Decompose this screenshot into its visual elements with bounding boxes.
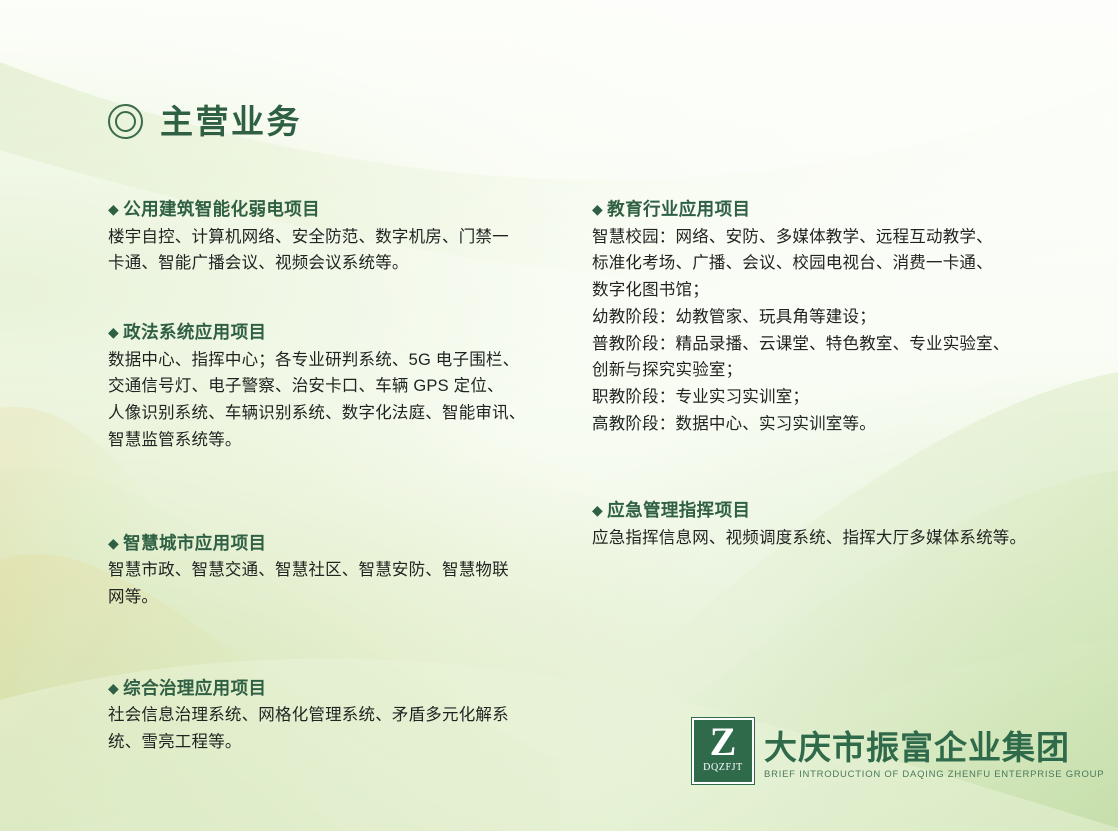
diamond-bullet-icon: ◆ [108,321,119,344]
company-logo: Z DQZFJT 大庆市振富企业集团 BRIEF INTRODUCTION OF… [692,718,1104,784]
body-line: 交通信号灯、电子警察、治安卡口、车辆 GPS 定位、 [108,373,550,400]
body-line: 智慧监管系统等。 [108,427,550,454]
spacer [592,437,1052,499]
page-title: 主营业务 [108,104,302,139]
section-public-building-intelligent-weak-current: ◆ 公用建筑智能化弱电项目 楼宇自控、计算机网络、安全防范、数字机房、门禁一 卡… [108,198,550,277]
section-body: 应急指挥信息网、视频调度系统、指挥大厅多媒体系统等。 [592,525,1052,552]
body-line: 创新与探究实验室； [592,357,1052,384]
section-title: ◆ 综合治理应用项目 [108,677,550,701]
body-line: 楼宇自控、计算机网络、安全防范、数字机房、门禁一 [108,224,550,251]
body-line: 数字化图书馆； [592,277,1052,304]
section-title-label: 智慧城市应用项目 [123,532,266,556]
section-smart-city: ◆ 智慧城市应用项目 智慧市政、智慧交通、智慧社区、智慧安防、智慧物联 网等。 [108,532,550,611]
body-line: 网等。 [108,584,550,611]
section-body: 智慧市政、智慧交通、智慧社区、智慧安防、智慧物联 网等。 [108,557,550,610]
section-title: ◆ 政法系统应用项目 [108,321,550,345]
section-title-label: 公用建筑智能化弱电项目 [123,198,320,222]
section-body: 数据中心、指挥中心；各专业研判系统、5G 电子围栏、 交通信号灯、电子警察、治安… [108,347,550,454]
brochure-page: 主营业务 ◆ 公用建筑智能化弱电项目 楼宇自控、计算机网络、安全防范、数字机房、… [0,0,1118,831]
section-title: ◆ 公用建筑智能化弱电项目 [108,198,550,222]
body-line: 人像识别系统、车辆识别系统、数字化法庭、智能审讯、 [108,400,550,427]
logo-mark-icon: Z DQZFJT [692,718,754,784]
body-line: 标准化考场、广播、会议、校园电视台、消费一卡通、 [592,250,1052,277]
diamond-bullet-icon: ◆ [108,532,119,555]
body-line: 应急指挥信息网、视频调度系统、指挥大厅多媒体系统等。 [592,525,1052,552]
spacer [108,611,550,677]
section-title-label: 综合治理应用项目 [123,677,266,701]
spacer [108,454,550,532]
logo-letter: Z [710,723,737,761]
logo-abbreviation: DQZFJT [703,762,743,773]
section-emergency-management-command: ◆ 应急管理指挥项目 应急指挥信息网、视频调度系统、指挥大厅多媒体系统等。 [592,499,1052,551]
diamond-bullet-icon: ◆ [592,499,603,522]
body-line: 高教阶段：数据中心、实习实训室等。 [592,411,1052,438]
body-line: 卡通、智能广播会议、视频会议系统等。 [108,250,550,277]
diamond-bullet-icon: ◆ [592,198,603,221]
body-line: 统、雪亮工程等。 [108,729,550,756]
right-column: ◆ 教育行业应用项目 智慧校园：网络、安防、多媒体教学、远程互动教学、 标准化考… [592,198,1052,552]
section-comprehensive-governance: ◆ 综合治理应用项目 社会信息治理系统、网格化管理系统、矛盾多元化解系 统、雪亮… [108,677,550,756]
section-title: ◆ 应急管理指挥项目 [592,499,1052,523]
body-line: 社会信息治理系统、网格化管理系统、矛盾多元化解系 [108,702,550,729]
body-line: 职教阶段：专业实习实训室； [592,384,1052,411]
section-title: ◆ 教育行业应用项目 [592,198,1052,222]
diamond-bullet-icon: ◆ [108,198,119,221]
spacer [108,277,550,321]
section-body: 社会信息治理系统、网格化管理系统、矛盾多元化解系 统、雪亮工程等。 [108,702,550,755]
diamond-bullet-icon: ◆ [108,677,119,700]
section-political-legal-system: ◆ 政法系统应用项目 数据中心、指挥中心；各专业研判系统、5G 电子围栏、 交通… [108,321,550,454]
body-line: 数据中心、指挥中心；各专业研判系统、5G 电子围栏、 [108,347,550,374]
section-title-label: 教育行业应用项目 [607,198,750,222]
left-column: ◆ 公用建筑智能化弱电项目 楼宇自控、计算机网络、安全防范、数字机房、门禁一 卡… [108,198,550,756]
body-line: 幼教阶段：幼教管家、玩具角等建设； [592,304,1052,331]
section-body: 智慧校园：网络、安防、多媒体教学、远程互动教学、 标准化考场、广播、会议、校园电… [592,224,1052,438]
section-title-label: 应急管理指挥项目 [607,499,750,523]
section-title: ◆ 智慧城市应用项目 [108,532,550,556]
logo-wordmark: 大庆市振富企业集团 BRIEF INTRODUCTION OF DAQING Z… [764,718,1104,780]
body-line: 智慧市政、智慧交通、智慧社区、智慧安防、智慧物联 [108,557,550,584]
company-name: 大庆市振富企业集团 [764,730,1104,766]
body-line: 普教阶段：精品录播、云课堂、特色教室、专业实验室、 [592,331,1052,358]
section-education-industry: ◆ 教育行业应用项目 智慧校园：网络、安防、多媒体教学、远程互动教学、 标准化考… [592,198,1052,437]
section-title-label: 政法系统应用项目 [123,321,266,345]
page-title-label: 主营业务 [160,105,302,138]
section-body: 楼宇自控、计算机网络、安全防范、数字机房、门禁一 卡通、智能广播会议、视频会议系… [108,224,550,277]
company-tagline: BRIEF INTRODUCTION OF DAQING ZHENFU ENTE… [764,769,1104,780]
double-circle-icon [108,104,143,139]
body-line: 智慧校园：网络、安防、多媒体教学、远程互动教学、 [592,224,1052,251]
